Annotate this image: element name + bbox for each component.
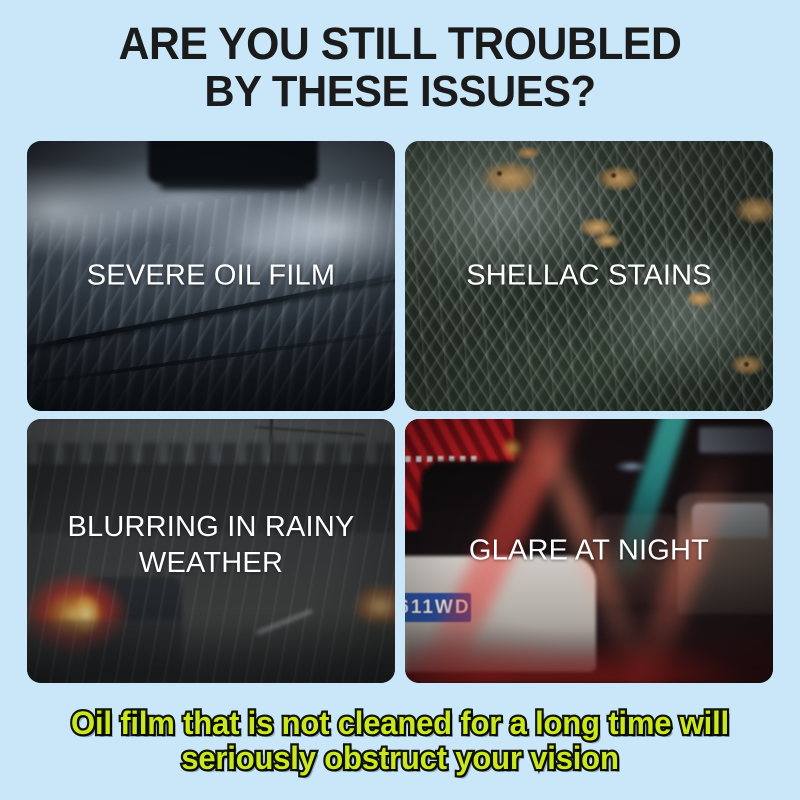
panel-label-shellac-stains: SHELLAC STAINS [405, 257, 773, 293]
promo-poster: ARE YOU STILL TROUBLED BY THESE ISSUES? … [0, 0, 800, 800]
bottom-caption: Oil film that is not cleaned for a long … [12, 706, 788, 776]
headline-line-2: BY THESE ISSUES? [20, 68, 780, 116]
headline-line-1: ARE YOU STILL TROUBLED [20, 20, 780, 68]
panel-label-glare-at-night: GLARE AT NIGHT [405, 532, 773, 568]
issue-panel-glare-at-night: 611WD GLARE AT NIGHT [405, 419, 773, 683]
caption-line-2: seriously obstruct your vision [12, 741, 788, 776]
issue-panel-blurring-rainy-weather: BLURRING IN RAINY WEATHER [27, 419, 395, 683]
panel-label-line-1: BLURRING IN RAINY [68, 511, 355, 543]
issue-panel-severe-oil-film: SEVERE OIL FILM [27, 141, 395, 411]
issue-panel-grid: SEVERE OIL FILM SHEL [27, 141, 773, 683]
issue-panel-shellac-stains: SHELLAC STAINS [405, 141, 773, 411]
page-title: ARE YOU STILL TROUBLED BY THESE ISSUES? [20, 20, 780, 116]
panel-label-line-2: WEATHER [139, 547, 283, 579]
panel-label-blurring-rainy-weather: BLURRING IN RAINY WEATHER [27, 509, 395, 581]
panel-label-severe-oil-film: SEVERE OIL FILM [27, 257, 395, 293]
caption-line-1: Oil film that is not cleaned for a long … [12, 706, 788, 741]
